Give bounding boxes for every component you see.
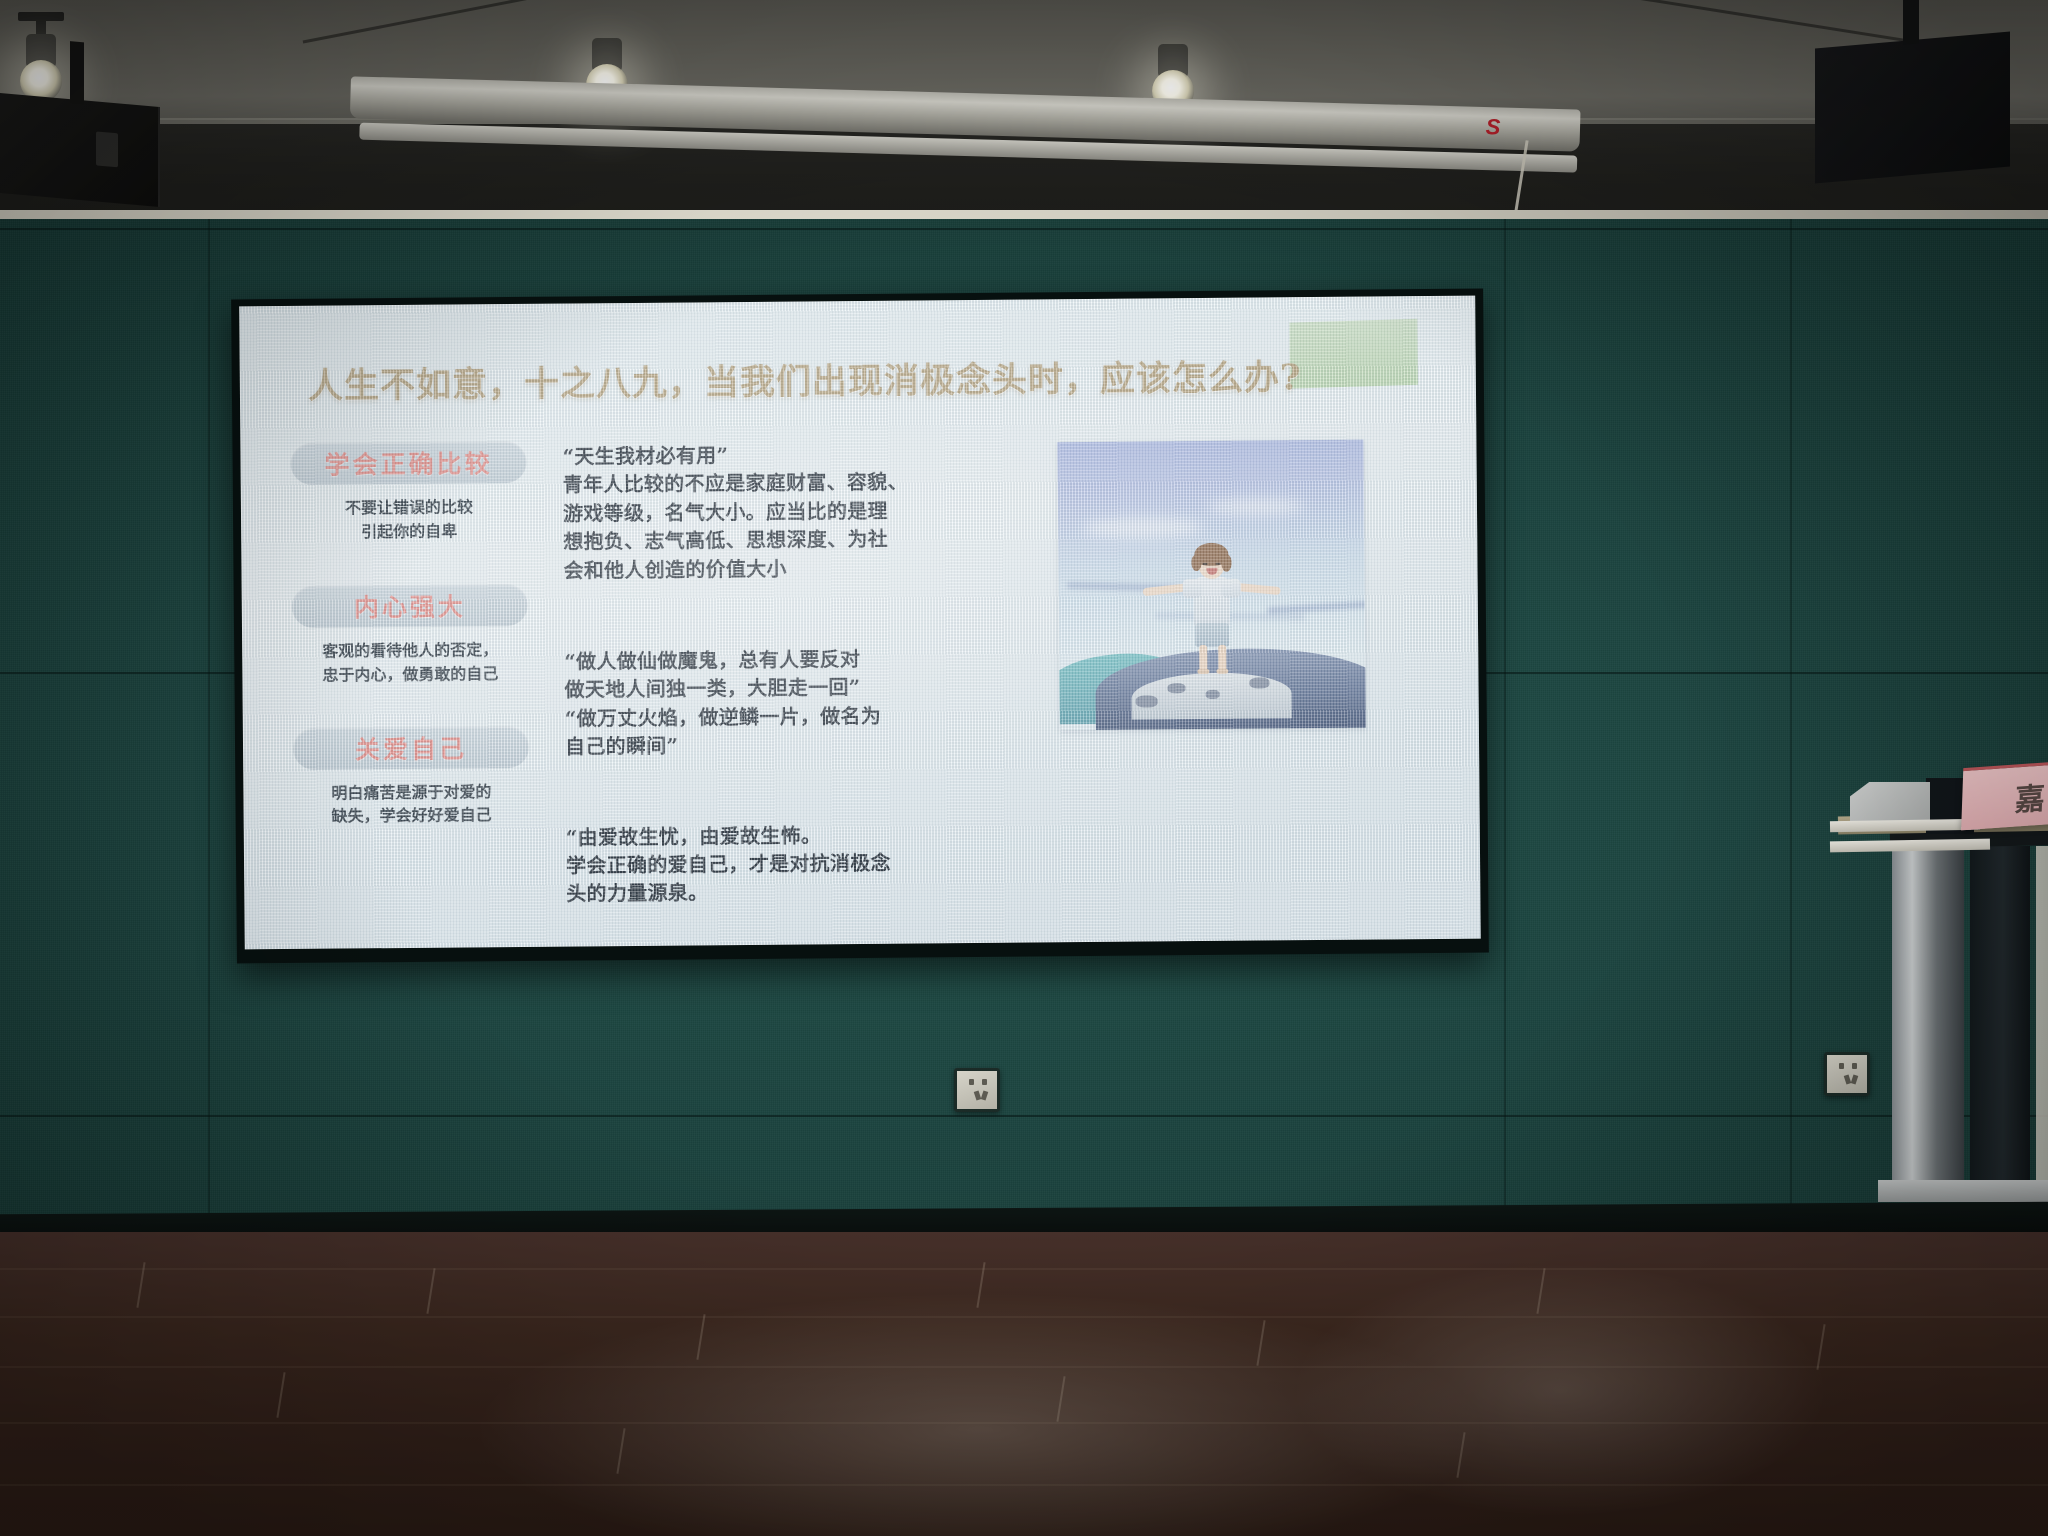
ceiling-seam: [303, 0, 618, 44]
slide-section: 关爱自己 明白痛苦是源于对爱的 缺失，学会好好爱自己: [293, 725, 552, 829]
nameplate-label: 嘉宾: [2004, 769, 2048, 820]
lectern-podium[interactable]: 嘉宾: [1830, 742, 2048, 1212]
led-display-screen[interactable]: 人生不如意，十之八九，当我们出现消极念头时，应该怎么办? 学会正确比较 不要让错…: [231, 289, 1489, 964]
wall-panel-seam: [1504, 210, 1506, 1220]
roller-brand-logo: S: [1480, 115, 1507, 140]
section-body-text: “由爱故生忧，由爱故生怖。 学会正确的爱自己，才是对抗消极念 头的力量源泉。: [566, 819, 993, 908]
child-figure: [1136, 540, 1287, 661]
ceiling-seam: [1483, 0, 1938, 47]
slide-title: 人生不如意，十之八九，当我们出现消极念头时，应该怎么办?: [308, 348, 1432, 409]
guest-nameplate: 嘉宾: [1961, 756, 2048, 831]
wall-panel-seam: [1790, 210, 1792, 1220]
section-heading-pill: 内心强大: [292, 584, 528, 628]
slide-section: 学会正确比较 不要让错误的比较 引起你的自卑: [290, 441, 549, 545]
power-socket-icon[interactable]: [954, 1068, 1000, 1112]
section-heading-label: 关爱自己: [355, 729, 467, 766]
section-body-text: “做人做仙做魔鬼，总有人要反对 做天地人间独一类，大胆走一回” “做万丈火焰，做…: [564, 644, 991, 761]
lecture-hall-scene: S 人生不如意，十之八九，当我们出现消极念头时，应该怎么办?: [0, 0, 2048, 1536]
wood-floor: [0, 1232, 2048, 1536]
wall-speaker-icon: [0, 93, 160, 207]
screen-surface: 人生不如意，十之八九，当我们出现消极念头时，应该怎么办? 学会正确比较 不要让错…: [239, 296, 1481, 950]
ceiling-speaker-icon: [1815, 31, 2010, 183]
slide-headings-column: 学会正确比较 不要让错误的比较 引起你的自卑 内心强大 客观的看待他人的否定， …: [290, 441, 552, 911]
podium-base: [1878, 1180, 2048, 1202]
slide-section: 内心强大 客观的看待他人的否定， 忠于内心，做勇敢的自己: [292, 584, 551, 688]
wall-panel-seam: [0, 1115, 2048, 1117]
section-subtitle: 不要让错误的比较 引起你的自卑: [291, 495, 527, 544]
wall-panel-seam: [0, 228, 2048, 230]
watercolor-child-on-mountain-illustration: [1057, 440, 1366, 731]
section-body-text: “天生我材必有用” 青年人比较的不应是家庭财富、容貌、 游戏等级，名气大小。应当…: [562, 439, 989, 585]
section-subtitle: 明白痛苦是源于对爱的 缺失，学会好好爱自己: [293, 780, 529, 829]
slide-content: 学会正确比较 不要让错误的比较 引起你的自卑 内心强大 客观的看待他人的否定， …: [284, 433, 1436, 911]
section-heading-label: 学会正确比较: [324, 444, 492, 481]
wall-panel-seam: [208, 210, 210, 1220]
presentation-slide: 人生不如意，十之八九，当我们出现消极念头时，应该怎么办? 学会正确比较 不要让错…: [239, 296, 1481, 950]
section-heading-pill: 学会正确比较: [290, 441, 526, 485]
slide-body-column: “天生我材必有用” 青年人比较的不应是家庭财富、容貌、 游戏等级，名气大小。应当…: [548, 437, 992, 909]
section-heading-pill: 关爱自己: [293, 726, 529, 770]
section-subtitle: 客观的看待他人的否定， 忠于内心，做勇敢的自己: [292, 638, 528, 687]
wall-top-trim: [0, 210, 2048, 219]
section-heading-label: 内心强大: [354, 588, 466, 625]
slide-illustration-column: [988, 433, 1436, 905]
